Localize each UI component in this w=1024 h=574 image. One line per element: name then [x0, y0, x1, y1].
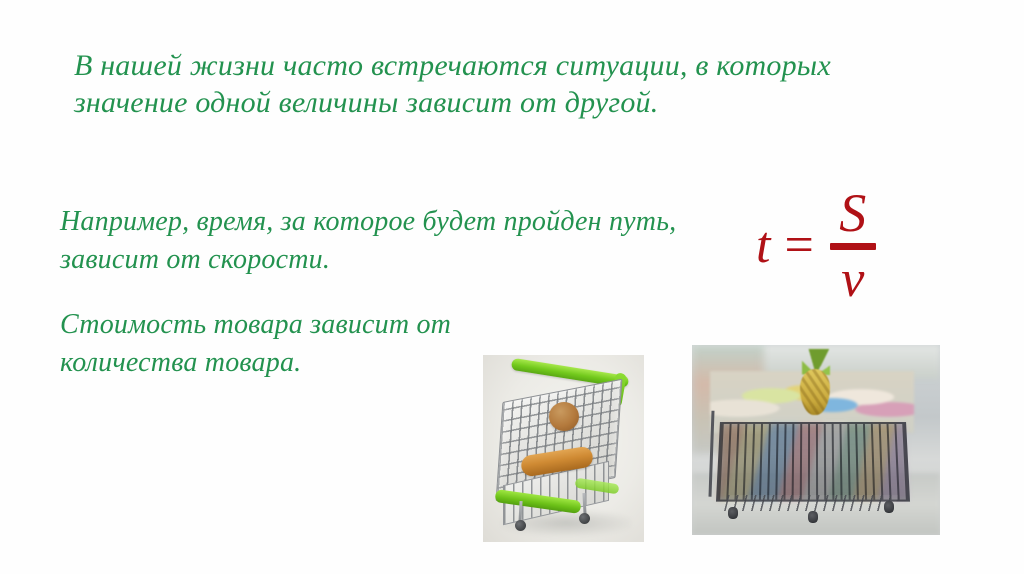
paragraph-cost-example: Стоимость товара зависит от количества т… [60, 306, 530, 382]
grocery-cart-wheel-rear [884, 501, 894, 513]
formula-equals-sign: = [784, 220, 829, 272]
bun-item [549, 402, 579, 431]
grocery-cart-basket [716, 422, 910, 502]
formula-variable-t: t [756, 220, 784, 272]
formula-time-equals-distance-over-speed: t = S v [756, 186, 876, 306]
cart-wheel-front [515, 520, 526, 531]
presentation-slide: В нашей жизни часто встречаются ситуации… [0, 0, 1024, 574]
grocery-cart-lower-shelf [724, 495, 898, 511]
full-grocery-cart-photo [692, 345, 940, 535]
grocery-cart-wheel-front [728, 507, 738, 519]
cart-wheel-rear [579, 513, 590, 524]
grocery-cart-wheel-middle [808, 511, 818, 523]
formula-fraction: S v [830, 186, 876, 306]
fraction-bar [830, 243, 876, 250]
paragraph-intro: В нашей жизни часто встречаются ситуации… [74, 47, 942, 121]
grocery-cart-handle [709, 411, 731, 498]
mini-shopping-cart-photo [483, 355, 644, 542]
paragraph-time-example: Например, время, за которое будет пройде… [60, 203, 720, 279]
formula-denominator-v: v [835, 252, 870, 306]
formula-numerator-s: S [833, 186, 872, 242]
